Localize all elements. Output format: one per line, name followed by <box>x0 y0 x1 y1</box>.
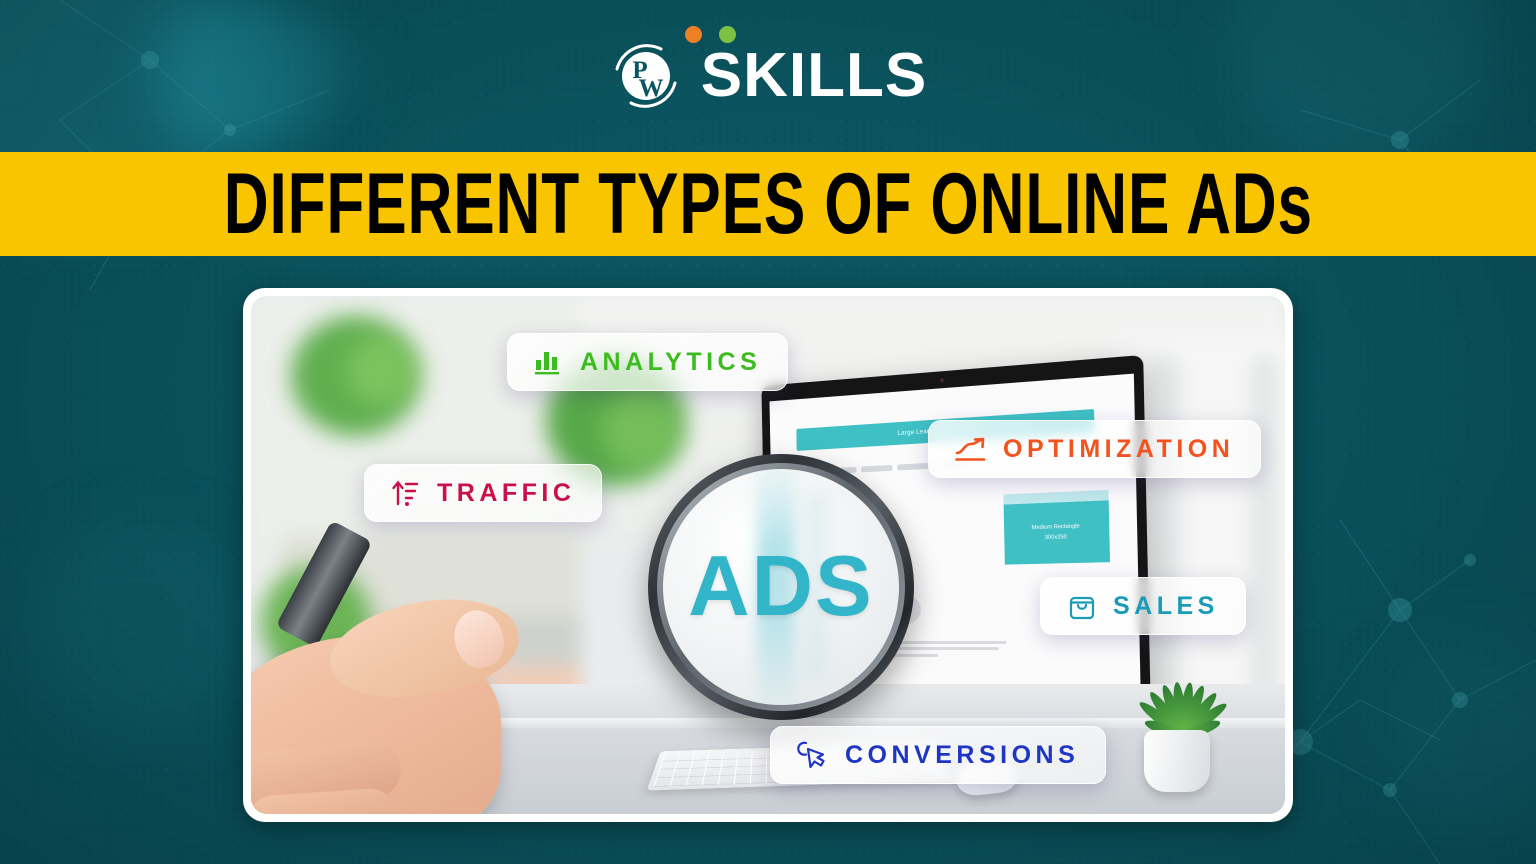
badge-analytics-label: ANALYTICS <box>580 348 761 377</box>
shopping-bag-icon <box>1067 591 1097 621</box>
badge-traffic-label: TRAFFIC <box>437 479 575 508</box>
click-cursor-icon <box>797 740 829 770</box>
pw-monogram-icon: P W <box>609 39 683 113</box>
traffic-arrow-icon <box>391 478 421 508</box>
badge-optimization-label: OPTIMIZATION <box>1003 435 1234 464</box>
medium-rectangle-size: 300x250 <box>1045 532 1067 544</box>
logo-dot-green <box>719 26 736 43</box>
logo-wordmark: SKILLS <box>701 45 927 107</box>
title-banner: DIFFERENT TYPES OF ONLINE ADs <box>0 152 1536 256</box>
badge-conversions[interactable]: CONVERSIONS <box>770 726 1106 784</box>
bar-chart-icon <box>534 348 564 376</box>
badge-traffic[interactable]: TRAFFIC <box>364 464 602 522</box>
trend-up-icon <box>955 435 987 463</box>
badge-optimization[interactable]: OPTIMIZATION <box>928 420 1261 478</box>
hero-photo: Large Leaderboard 970 x 90 ...rtising Me… <box>251 296 1285 814</box>
desk-plant <box>1121 662 1233 792</box>
magnifier-lens: ADS <box>663 469 899 705</box>
hand-holding-magnifier <box>251 596 541 814</box>
hero-image-card: Large Leaderboard 970 x 90 ...rtising Me… <box>243 288 1293 822</box>
plant-pot <box>1144 730 1210 792</box>
medium-rectangle-label: Medium Rectangle <box>1032 521 1080 534</box>
logo-dot-orange <box>685 26 702 43</box>
ads-label: ADS <box>688 538 873 636</box>
page-title: DIFFERENT TYPES OF ONLINE ADs <box>223 161 1312 247</box>
badge-analytics[interactable]: ANALYTICS <box>507 333 788 391</box>
badge-conversions-label: CONVERSIONS <box>845 741 1079 770</box>
badge-sales-label: SALES <box>1113 592 1219 621</box>
header: P W SKILLS <box>0 0 1536 152</box>
magnifying-glass: ADS <box>648 454 914 720</box>
pw-skills-logo[interactable]: P W SKILLS <box>609 39 927 113</box>
svg-text:W: W <box>638 75 663 102</box>
badge-sales[interactable]: SALES <box>1040 577 1246 635</box>
medium-rectangle-ad: Medium Rectangle 300x250 <box>1003 500 1109 565</box>
